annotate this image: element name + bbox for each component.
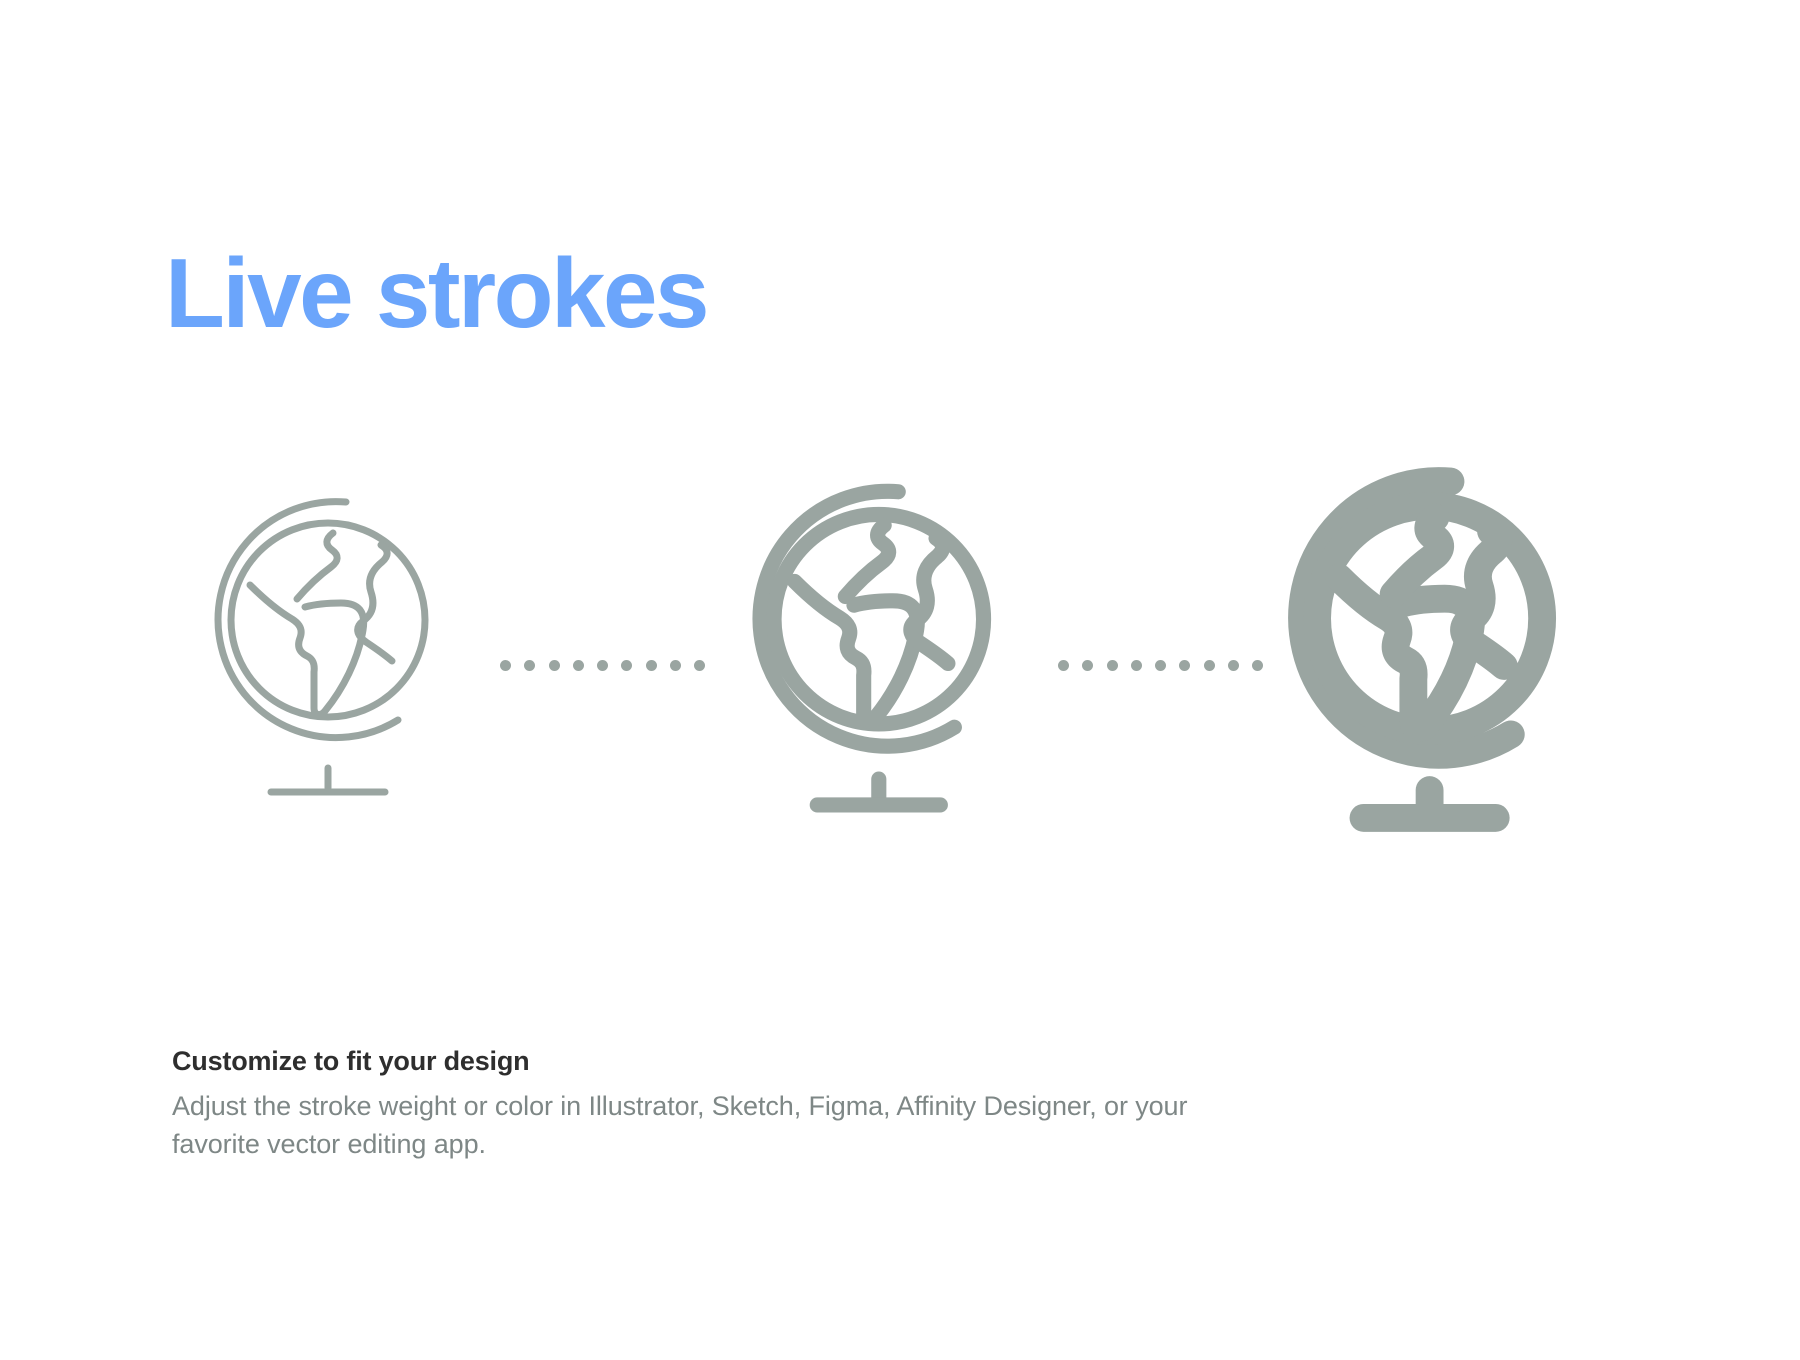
connector-dot <box>500 660 511 671</box>
desk-globe-icon <box>218 502 425 792</box>
connector-dot <box>549 660 560 671</box>
connector-dots-2 <box>1058 655 1263 675</box>
continent-north-trail <box>1394 517 1441 594</box>
connector-dot <box>1179 660 1190 671</box>
globe-icon-variant-thick[interactable] <box>1268 470 1568 890</box>
caption-heading: Customize to fit your design <box>172 1045 1272 1079</box>
connector-dot <box>1155 660 1166 671</box>
connector-dot <box>1107 660 1118 671</box>
continent-north-trail <box>845 525 888 596</box>
connector-dot <box>1252 660 1263 671</box>
connector-dot <box>573 660 584 671</box>
continent-africa-eurasia <box>358 545 392 661</box>
stroke-weight-showcase <box>0 470 1800 890</box>
connector-dot <box>597 660 608 671</box>
globe-meridian-arc <box>218 502 398 738</box>
slide-canvas: Live strokes <box>0 0 1800 1360</box>
connector-dot <box>646 660 657 671</box>
caption-block: Customize to fit your design Adjust the … <box>172 1045 1272 1163</box>
globe-icon-variant-medium[interactable] <box>718 470 1018 890</box>
connector-dot <box>1228 660 1239 671</box>
desk-globe-icon <box>1302 481 1542 818</box>
page-title: Live strokes <box>165 244 707 342</box>
continent-north-trail <box>297 533 337 599</box>
globe-sphere <box>231 523 425 717</box>
connector-dot <box>524 660 535 671</box>
connector-dot <box>670 660 681 671</box>
connector-dot <box>1082 660 1093 671</box>
connector-dot <box>1131 660 1142 671</box>
connector-dot <box>621 660 632 671</box>
continent-africa-eurasia <box>1464 531 1504 666</box>
connector-dot <box>694 660 705 671</box>
connector-dot <box>1058 660 1069 671</box>
caption-body: Adjust the stroke weight or color in Ill… <box>172 1087 1222 1164</box>
connector-dot <box>1204 660 1215 671</box>
connector-dots-1 <box>500 655 705 675</box>
globe-icon-variant-thin[interactable] <box>168 470 468 890</box>
desk-globe-icon <box>760 491 984 805</box>
